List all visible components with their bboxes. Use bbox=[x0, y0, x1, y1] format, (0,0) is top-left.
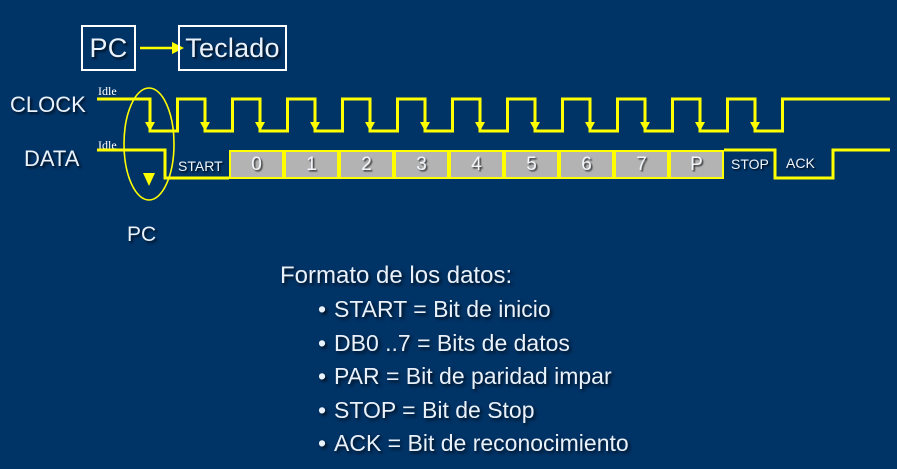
bullet-icon: • bbox=[318, 327, 334, 361]
node-box-teclado: Teclado bbox=[178, 25, 287, 71]
legend-item: •ACK = Bit de reconocimiento bbox=[318, 427, 629, 461]
bullet-icon: • bbox=[318, 394, 334, 428]
bullet-icon: • bbox=[318, 360, 334, 394]
legend-item-label: PAR = Bit de paridad impar bbox=[334, 363, 612, 389]
legend-block: Formato de los datos: •START = Bit de in… bbox=[280, 262, 629, 461]
data-bit-label: 2 bbox=[361, 154, 372, 176]
data-bit-cell: 0 bbox=[229, 150, 284, 179]
legend-item-label: DB0 ..7 = Bits de datos bbox=[334, 330, 570, 356]
legend-item: •START = Bit de inicio bbox=[318, 293, 629, 327]
data-bit-cell: 5 bbox=[504, 150, 559, 179]
node-label-pc: PC bbox=[90, 33, 128, 64]
bullet-icon: • bbox=[318, 293, 334, 327]
data-bit-cell: P bbox=[669, 150, 724, 179]
data-bit-label: 6 bbox=[581, 154, 592, 176]
idle-label-clock: Idle bbox=[98, 84, 117, 99]
node-box-pc: PC bbox=[81, 25, 136, 71]
data-bit-label: 7 bbox=[636, 154, 647, 176]
data-bit-cell: 4 bbox=[449, 150, 504, 179]
ellipse-highlight-icon bbox=[124, 88, 174, 200]
signal-label-data: DATA bbox=[24, 146, 79, 172]
legend-item-label: ACK = Bit de reconocimiento bbox=[334, 430, 629, 456]
data-bit-cell: 3 bbox=[394, 150, 449, 179]
legend-item: •PAR = Bit de paridad impar bbox=[318, 360, 629, 394]
data-bit-label: 0 bbox=[251, 154, 262, 176]
data-bit-cell: 6 bbox=[559, 150, 614, 179]
frame-label-stop: STOP bbox=[731, 156, 769, 172]
legend-title: Formato de los datos: bbox=[280, 262, 629, 290]
annotation-caption-pc: PC bbox=[127, 223, 156, 247]
legend-item: •DB0 ..7 = Bits de datos bbox=[318, 327, 629, 361]
legend-item: •STOP = Bit de Stop bbox=[318, 394, 629, 428]
data-bit-cell: 2 bbox=[339, 150, 394, 179]
frame-label-ack: ACK bbox=[786, 155, 815, 171]
node-label-teclado: Teclado bbox=[185, 33, 279, 64]
data-bit-label: 5 bbox=[526, 154, 537, 176]
legend-item-label: STOP = Bit de Stop bbox=[334, 397, 535, 423]
data-bit-label: 1 bbox=[306, 154, 317, 176]
data-bit-cell: 1 bbox=[284, 150, 339, 179]
frame-label-start: START bbox=[178, 158, 223, 174]
idle-label-data: Idle bbox=[98, 138, 117, 153]
legend-list: •START = Bit de inicio•DB0 ..7 = Bits de… bbox=[280, 293, 629, 461]
data-bit-label: 4 bbox=[471, 154, 482, 176]
legend-item-label: START = Bit de inicio bbox=[334, 296, 551, 322]
bullet-icon: • bbox=[318, 427, 334, 461]
data-bit-label: 3 bbox=[416, 154, 427, 176]
signal-label-clock: CLOCK bbox=[10, 92, 86, 118]
slide-canvas: PC Teclado CLOCK DATA Idle Idle START ST… bbox=[0, 0, 897, 469]
data-bit-cell: 7 bbox=[614, 150, 669, 179]
clock-waveform bbox=[97, 99, 890, 131]
data-bit-label: P bbox=[690, 154, 703, 176]
